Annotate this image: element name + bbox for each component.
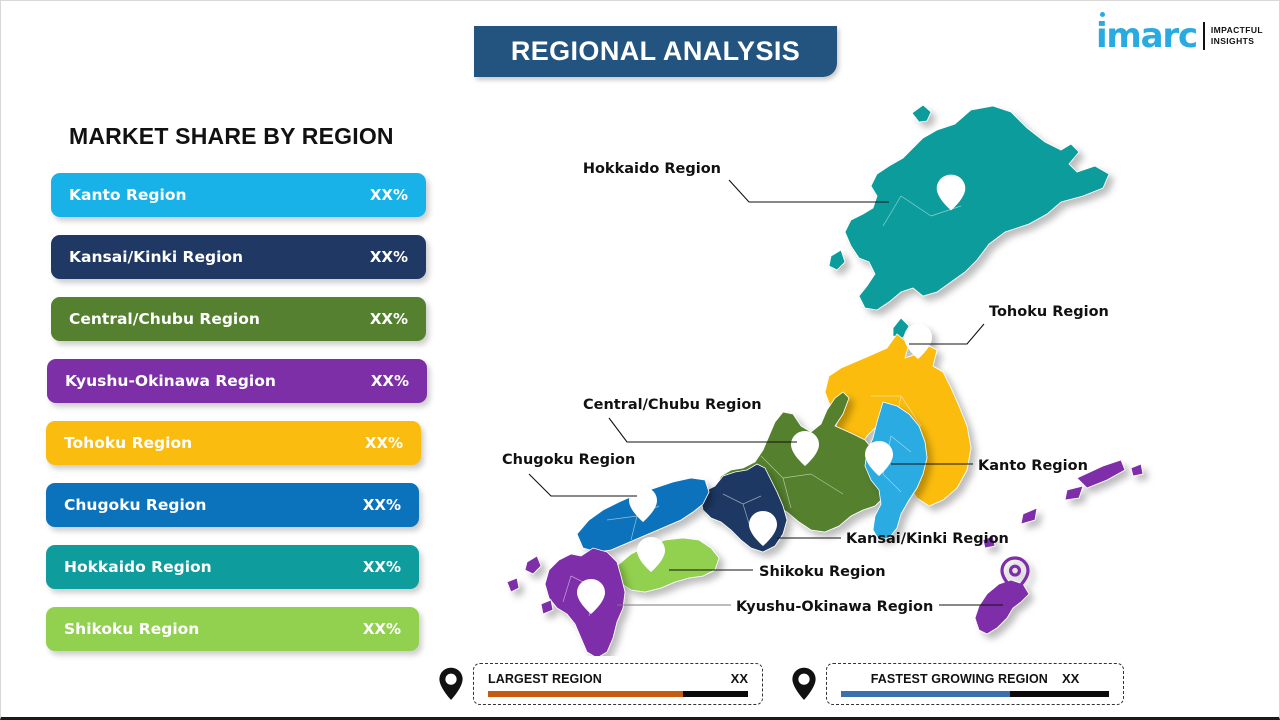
logo-wordmark-text: imarc (1096, 16, 1197, 56)
legend-row-label: Shikoku Region (64, 620, 199, 638)
map-pin-icon (438, 667, 464, 701)
largest-region-value: XX (731, 671, 748, 686)
legend-row-value: XX% (370, 310, 408, 328)
fastest-region-progress-track (841, 691, 1109, 697)
largest-region-label: LARGEST REGION (488, 672, 602, 686)
map-label-chubu: Central/Chubu Region (583, 397, 762, 413)
map-label-kyushu: Kyushu-Okinawa Region (736, 599, 933, 615)
logo-tagline-line1: IMPACTFUL (1211, 25, 1263, 36)
legend-row-label: Kyushu-Okinawa Region (65, 372, 276, 390)
logo-dot-icon (1100, 12, 1105, 17)
legend-row-value: XX% (363, 558, 401, 576)
logo-tagline-line2: INSIGHTS (1211, 36, 1263, 47)
fastest-region-box: FASTEST GROWING REGION XX (826, 663, 1124, 705)
map-label-tohoku: Tohoku Region (989, 304, 1109, 320)
legend-row[interactable]: Hokkaido RegionXX% (46, 545, 419, 589)
legend-row[interactable]: Kansai/Kinki RegionXX% (51, 235, 426, 279)
imarc-logo: imarc IMPACTFUL INSIGHTS (1096, 19, 1263, 53)
legend-row[interactable]: Kyushu-Okinawa RegionXX% (47, 359, 427, 403)
map-label-hokkaido: Hokkaido Region (583, 161, 721, 177)
legend-row-label: Kanto Region (69, 186, 187, 204)
fastest-region-label: FASTEST GROWING REGION (871, 672, 1048, 686)
fastest-region-callout: FASTEST GROWING REGION XX (791, 663, 1124, 705)
legend-row-value: XX% (371, 372, 409, 390)
largest-region-progress-track (488, 691, 748, 697)
page-title: REGIONAL ANALYSIS (511, 36, 800, 67)
logo-divider (1203, 22, 1205, 50)
largest-region-box: LARGEST REGION XX (473, 663, 763, 705)
largest-region-callout: LARGEST REGION XX (438, 663, 763, 705)
japan-region-map: Hokkaido RegionTohoku RegionCentral/Chub… (431, 96, 1251, 656)
legend-row-label: Chugoku Region (64, 496, 206, 514)
map-label-kansai: Kansai/Kinki Region (846, 531, 1009, 547)
logo-tagline: IMPACTFUL INSIGHTS (1211, 25, 1263, 47)
logo-wordmark: imarc (1096, 19, 1197, 53)
callout-line-chugoku (529, 474, 637, 496)
map-label-chugoku: Chugoku Region (502, 452, 635, 468)
legend-row-value: XX% (370, 248, 408, 266)
page-title-banner: REGIONAL ANALYSIS (474, 26, 837, 77)
legend-row[interactable]: Tohoku RegionXX% (46, 421, 421, 465)
legend-row-value: XX% (365, 434, 403, 452)
legend-row-value: XX% (370, 186, 408, 204)
map-label-kanto: Kanto Region (978, 458, 1088, 474)
legend-row-value: XX% (363, 620, 401, 638)
slide-canvas: REGIONAL ANALYSIS imarc IMPACTFUL INSIGH… (0, 0, 1280, 720)
panel-title: MARKET SHARE BY REGION (69, 123, 394, 150)
legend-row[interactable]: Kanto RegionXX% (51, 173, 426, 217)
fastest-region-progress-fill (841, 691, 1010, 697)
legend-row[interactable]: Chugoku RegionXX% (46, 483, 419, 527)
market-share-legend: Kanto RegionXX%Kansai/Kinki RegionXX%Cen… (1, 173, 441, 669)
legend-row-label: Tohoku Region (64, 434, 192, 452)
map-region-okinawa[interactable] (975, 460, 1143, 634)
map-region-kyushu[interactable] (507, 548, 625, 656)
legend-row-label: Hokkaido Region (64, 558, 212, 576)
fastest-region-value: XX (1062, 671, 1079, 686)
map-label-shikoku: Shikoku Region (759, 564, 886, 580)
legend-row-value: XX% (363, 496, 401, 514)
legend-row-label: Kansai/Kinki Region (69, 248, 243, 266)
legend-row[interactable]: Shikoku RegionXX% (46, 607, 419, 651)
map-region-shikoku[interactable] (617, 537, 719, 592)
callout-line-hokkaido (729, 180, 889, 202)
legend-row-label: Central/Chubu Region (69, 310, 260, 328)
legend-row[interactable]: Central/Chubu RegionXX% (51, 297, 426, 341)
largest-region-progress-fill (488, 691, 683, 697)
map-pin-icon (791, 667, 817, 701)
